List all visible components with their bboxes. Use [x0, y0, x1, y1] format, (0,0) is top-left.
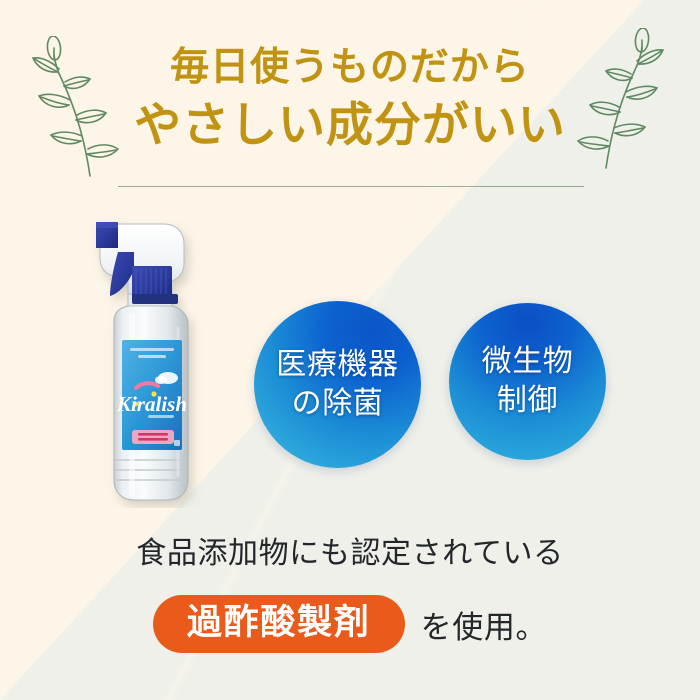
ingredient-pill: 過酢酸製剤 [153, 595, 405, 653]
footer-sub-copy: 食品添加物にも認定されている [0, 528, 700, 572]
headline-divider [118, 186, 584, 187]
footer-cta-row: 過酢酸製剤 を使用。 [0, 595, 700, 653]
badge-microbial-control: 微生物 制御 [449, 303, 606, 460]
headline: 毎日使うものだから やさしい成分がいい [0, 48, 700, 150]
spray-bottle-icon: Kiralish [88, 208, 218, 508]
svg-text:Kiralish: Kiralish [116, 392, 187, 416]
badge-medical-line-2: の除菌 [292, 385, 384, 423]
headline-line-1: 毎日使うものだから [0, 48, 700, 87]
badge-medical-line-1: 医療機器 [276, 346, 398, 384]
ingredient-suffix: を使用。 [421, 602, 547, 647]
poster-canvas: 毎日使うものだから やさしい成分がいい [0, 0, 700, 700]
badge-medical-device: 医療機器 の除菌 [254, 301, 421, 468]
badge-microbe-line-2: 制御 [497, 382, 558, 420]
badge-microbe-line-1: 微生物 [482, 343, 574, 381]
headline-line-2: やさしい成分がいい [0, 103, 700, 150]
